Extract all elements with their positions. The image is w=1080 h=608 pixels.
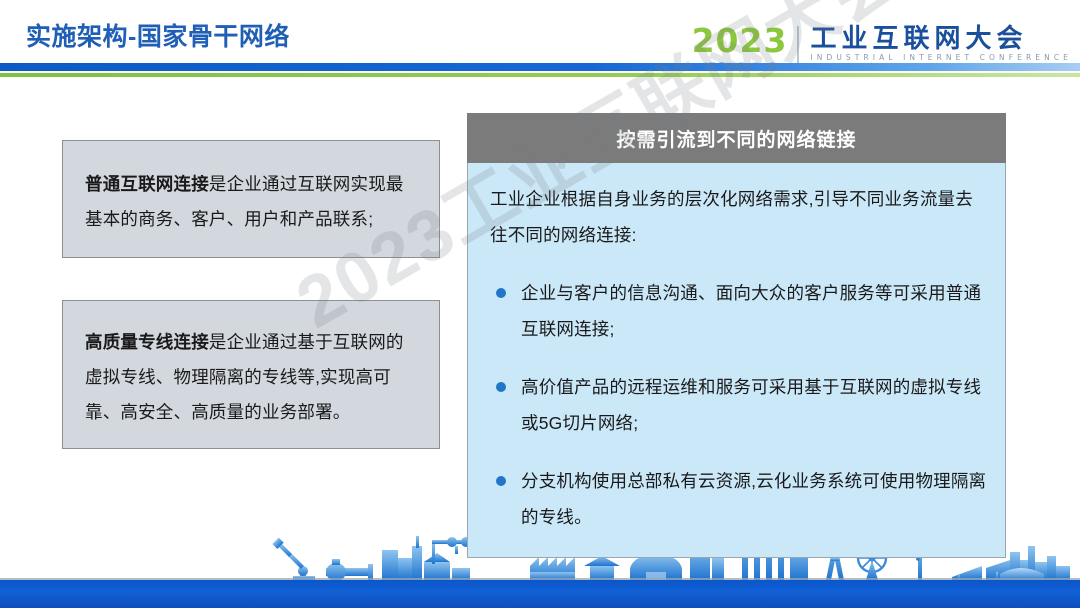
header-rule-blue — [0, 63, 1080, 71]
info-box-lead-term: 普通互联网连接 — [85, 174, 209, 194]
panel-header-title: 按需引流到不同的网络链接 — [616, 125, 856, 152]
panel-bullet-list: 企业与客户的信息沟通、面向大众的客户服务等可采用普通互联网连接; 高价值产品的远… — [490, 275, 987, 535]
bullet-dot-icon — [496, 288, 506, 298]
bullet-dot-icon — [496, 476, 506, 486]
bullet-dot-icon — [496, 382, 506, 392]
right-panel: 按需引流到不同的网络链接 工业企业根据自身业务的层次化网络需求,引导不同业务流量… — [467, 113, 1006, 558]
list-item-label: 高价值产品的远程运维和服务可采用基于互联网的虚拟专线或5G切片网络; — [521, 377, 981, 433]
list-item: 企业与客户的信息沟通、面向大众的客户服务等可采用普通互联网连接; — [490, 275, 987, 347]
list-item: 高价值产品的远程运维和服务可采用基于互联网的虚拟专线或5G切片网络; — [490, 369, 987, 441]
list-item-label: 企业与客户的信息沟通、面向大众的客户服务等可采用普通互联网连接; — [521, 283, 981, 339]
header-rule-green — [0, 73, 1080, 77]
footer-blue-band — [0, 580, 1080, 608]
info-box-internet-connection: 普通互联网连接是企业通过互联网实现最基本的商务、客户、用户和产品联系; — [62, 140, 440, 258]
slide-header: 实施架构-国家骨干网络 2023 中国·苏州 8月14日-16日 工业互联网大会… — [0, 0, 1080, 78]
page-title: 实施架构-国家骨干网络 — [26, 17, 290, 53]
panel-body: 工业企业根据自身业务的层次化网络需求,引导不同业务流量去往不同的网络连接: 企业… — [467, 163, 1006, 558]
list-item: 分支机构使用总部私有云资源,云化业务系统可使用物理隔离的专线。 — [490, 463, 987, 535]
header-divider-rule — [0, 63, 1080, 78]
logo-year: 2023 — [692, 24, 788, 58]
logo-main-title: 工业互联网大会 — [810, 24, 1027, 52]
info-box-lead-term: 高质量专线连接 — [85, 332, 209, 352]
left-column: 普通互联网连接是企业通过互联网实现最基本的商务、客户、用户和产品联系; 高质量专… — [62, 140, 440, 449]
panel-intro-text: 工业企业根据自身业务的层次化网络需求,引导不同业务流量去往不同的网络连接: — [490, 181, 987, 253]
info-box-dedicated-line: 高质量专线连接是企业通过基于互联网的虚拟专线、物理隔离的专线等,实现高可靠、高安… — [62, 300, 440, 449]
logo-english-title: INDUSTRIAL INTERNET CONFERENCE — [810, 52, 1072, 63]
list-item-label: 分支机构使用总部私有云资源,云化业务系统可使用物理隔离的专线。 — [521, 471, 986, 527]
panel-header: 按需引流到不同的网络链接 — [467, 113, 1006, 163]
slide: 实施架构-国家骨干网络 2023 中国·苏州 8月14日-16日 工业互联网大会… — [0, 0, 1080, 608]
